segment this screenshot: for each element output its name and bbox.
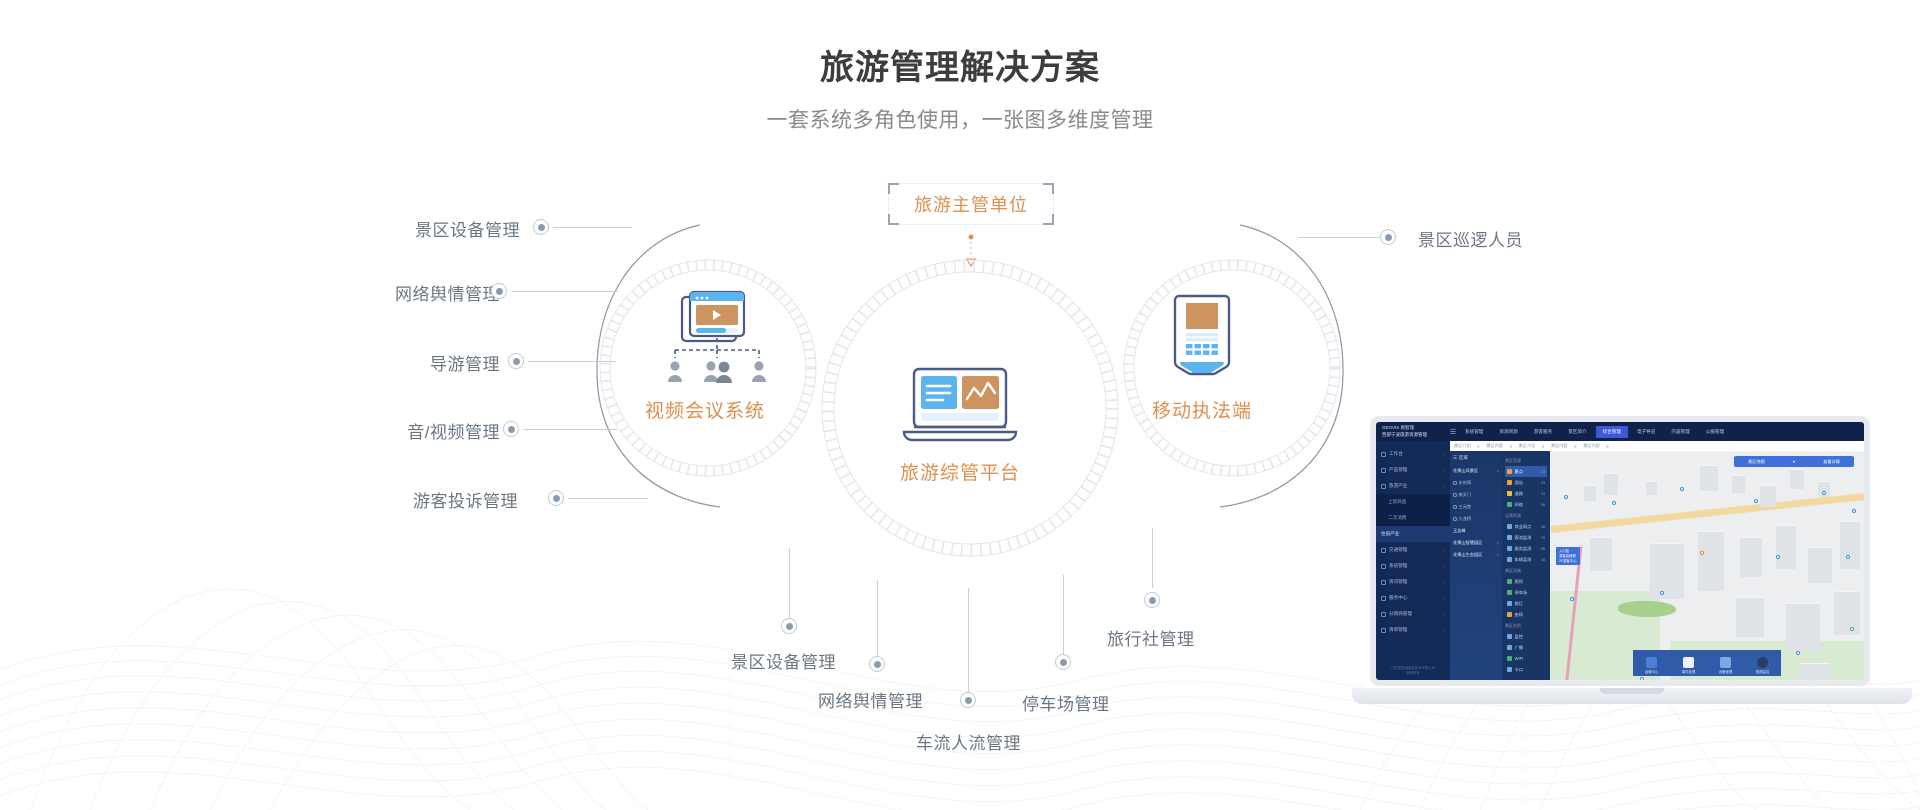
dock-item-label: 事件处理 — [1682, 670, 1696, 674]
map-building — [1786, 603, 1820, 651]
sidebar-item[interactable]: 清单管理 › — [1376, 622, 1450, 638]
sidebar-item-label: 服务中心 — [1389, 595, 1407, 601]
sidebar-item-label: 产品管理 — [1389, 467, 1407, 473]
tree-row[interactable]: 花果山生态园区 ∨ — [1453, 549, 1499, 561]
tree-row[interactable]: 南天门 — [1453, 489, 1499, 501]
layer-swatch-icon — [1507, 634, 1512, 639]
tab-close-icon[interactable]: ✕ — [1574, 444, 1578, 449]
list-item[interactable]: 服务监测 95 — [1505, 543, 1547, 554]
sidebar-item-label: 分销商管理 — [1389, 611, 1412, 617]
sidebar-item-icon — [1381, 628, 1386, 633]
map-building — [1604, 473, 1618, 495]
sidebar-item-icon — [1381, 468, 1386, 473]
tree-bullet-icon — [1453, 517, 1457, 521]
dashboard-logo: GEOVIS 易智瑞 西部宁波旅游资源管理 — [1376, 425, 1448, 437]
region-tree-title: 区域 — [1459, 455, 1468, 461]
list-item[interactable]: 道路 23 — [1505, 488, 1547, 499]
device-management-icon — [1720, 657, 1731, 668]
list-item-label: 广播 — [1515, 645, 1523, 651]
list-item[interactable]: 停车场 — [1505, 587, 1547, 598]
chevron-right-icon: › — [1444, 612, 1445, 617]
node-label-mobile-enforcement: 移动执法端 — [1119, 396, 1285, 423]
node-mobile-enforcement[interactable]: 移动执法端 — [1147, 290, 1257, 400]
spoke-label-bottom-3: 车流人流管理 — [916, 729, 1021, 754]
layer-swatch-icon — [1507, 524, 1512, 529]
sidebar-item[interactable]: 分销商管理 › — [1376, 606, 1450, 622]
tree-row-label: 玉女峰 — [1453, 528, 1466, 534]
sidebar-subitem[interactable]: 上架商品 — [1376, 494, 1450, 510]
tab-item[interactable]: 景区内容 — [1486, 443, 1503, 449]
tab-close-icon[interactable]: ✕ — [1541, 444, 1545, 449]
map-building — [1584, 485, 1596, 501]
layer-swatch-icon — [1507, 656, 1512, 661]
sidebar-item-label: 交通管理 — [1389, 547, 1407, 553]
spoke-dot-left-5[interactable] — [548, 490, 564, 506]
sidebar-item-icon — [1381, 548, 1386, 553]
map-marker[interactable] — [1796, 651, 1800, 655]
tab-item[interactable]: 景区介绍 — [1519, 443, 1536, 449]
list-group-title: 景区设施 — [1505, 568, 1547, 574]
sidebar-item-icon — [1381, 484, 1386, 489]
layer-swatch-icon — [1507, 469, 1512, 474]
tree-row[interactable]: 花果山风景区 ∧ — [1453, 465, 1499, 477]
dock-item-label: 视频监控 — [1756, 670, 1770, 674]
map-building — [1700, 465, 1718, 491]
node-video-conference[interactable]: 视频会议系统 — [640, 290, 770, 400]
tree-row[interactable]: 九龙桥 — [1453, 513, 1499, 525]
dashboard-menu: 系统管理 资源资源 游客服务 景区简介 综合管理 电子导览 内容管理 公报管理 — [1458, 426, 1864, 438]
menu-item[interactable]: 公报管理 — [1699, 426, 1731, 438]
spoke-dot-bottom-3[interactable] — [960, 692, 976, 708]
tab-item[interactable]: 景区介绍 — [1454, 443, 1471, 449]
spoke-dot-left-3[interactable] — [508, 353, 524, 369]
list-item[interactable]: 卡口 — [1505, 664, 1547, 675]
footer-line-2: 版权所有 — [1376, 671, 1450, 676]
list-item-label: 车辆监测 — [1515, 557, 1532, 563]
map-marker[interactable] — [1564, 495, 1568, 499]
chevron-right-icon: › — [1444, 548, 1445, 553]
tab-item[interactable]: 景区内容 — [1551, 443, 1568, 449]
tree-row[interactable]: 花果山智慧园区 ∨ — [1453, 537, 1499, 549]
chevron-right-icon: › — [1444, 452, 1445, 457]
map-region-select[interactable]: 景区地图 — [1748, 459, 1765, 465]
page-subtitle: 一套系统多角色使用，一张图多维度管理 — [0, 104, 1920, 134]
chevron-right-icon: › — [1444, 596, 1445, 601]
layer-swatch-icon — [1507, 480, 1512, 485]
map-building — [1646, 481, 1657, 495]
map-building — [1760, 485, 1776, 507]
spoke-label-left-4: 音/视频管理 — [300, 418, 500, 443]
layer-swatch-icon — [1507, 667, 1512, 672]
map-building — [1740, 537, 1762, 577]
menu-item[interactable]: 资源资源 — [1492, 426, 1524, 438]
spoke-label-left-5: 游客投诉管理 — [330, 487, 518, 512]
map-building — [1698, 531, 1724, 591]
list-item-count: 95 — [1541, 547, 1545, 551]
list-item-count: 23 — [1541, 470, 1545, 474]
map-park-polygon — [1618, 601, 1676, 617]
mobile-device-icon — [1147, 290, 1257, 400]
spoke-dot-bottom-4[interactable] — [1055, 654, 1071, 670]
tab-item[interactable]: 景区内容 — [1583, 443, 1600, 449]
sidebar-item-label: 工作台 — [1389, 451, 1403, 457]
sidebar-item[interactable]: 交通管理 › — [1376, 542, 1450, 558]
menu-item[interactable]: 景区简介 — [1561, 426, 1593, 438]
map-marker[interactable] — [1612, 501, 1616, 505]
tree-row-label: 南天门 — [1459, 492, 1472, 498]
map-tooltip: 入口处 游客高峰期 2F游客中心 — [1556, 547, 1580, 565]
sidebar-item-label: 清单管理 — [1389, 627, 1407, 633]
tab-close-icon[interactable]: ✕ — [1477, 444, 1481, 449]
list-group-title: 景区资源 — [1505, 458, 1547, 464]
resource-list: 景区资源 景点 23 酒店 23 道路 — [1502, 451, 1550, 680]
map-marker[interactable] — [1776, 555, 1780, 559]
map-building — [1590, 537, 1612, 571]
corner-bracket-top-left — [888, 183, 899, 194]
list-item-label: 座椅 — [1515, 612, 1523, 618]
spoke-label-bottom-2: 网络舆情管理 — [818, 687, 923, 712]
list-item-count: 16 — [1541, 558, 1545, 562]
spoke-dot-left-1[interactable] — [533, 219, 549, 235]
spoke-dot-bottom-2[interactable] — [869, 656, 885, 672]
list-item-label: 监控 — [1515, 634, 1523, 640]
list-item-label: 道路 — [1515, 491, 1523, 497]
menu-item[interactable]: 内容管理 — [1664, 426, 1696, 438]
tree-bullet-icon — [1453, 493, 1457, 497]
operations-center-icon — [1646, 657, 1657, 668]
hamburger-menu-icon[interactable]: ☰ — [1448, 428, 1458, 436]
dock-item[interactable]: 运营中心 — [1645, 657, 1659, 674]
sidebar-item-label: 旅游产业 — [1389, 483, 1407, 489]
sidebar-subitem[interactable]: 二次消费 — [1376, 510, 1450, 526]
spoke-line-left-4 — [523, 429, 617, 430]
list-item[interactable]: 广播 — [1505, 642, 1547, 653]
event-handling-icon — [1683, 657, 1694, 668]
map-building — [1834, 591, 1860, 635]
sidebar-item-selected[interactable]: 住宿产业 — [1376, 526, 1450, 542]
sidebar-item-label: 资讯管理 — [1389, 579, 1407, 585]
sidebar-subitem-label: 上架商品 — [1388, 499, 1406, 505]
map-marker[interactable] — [1660, 591, 1664, 595]
map-building — [1650, 543, 1684, 599]
sidebar-item[interactable]: 产品管理 › — [1376, 462, 1450, 478]
list-item[interactable]: 监控 — [1505, 631, 1547, 642]
spoke-label-left-2: 网络舆情管理 — [300, 280, 500, 305]
sidebar-item-icon — [1381, 596, 1386, 601]
list-item-label: 厕所 — [1515, 579, 1523, 585]
tree-row-label: 三元宫 — [1459, 504, 1472, 510]
sidebar-item[interactable]: 工作台 › — [1376, 446, 1450, 462]
tab-close-icon[interactable]: ✕ — [1509, 444, 1513, 449]
spoke-label-left-1: 景区设备管理 — [320, 216, 520, 241]
list-item-label: 景点 — [1515, 469, 1523, 475]
laptop-mockup: GEOVIS 易智瑞 西部宁波旅游资源管理 ☰ 系统管理 资源资源 游客服务 景… — [1352, 416, 1920, 746]
map-marker[interactable] — [1680, 487, 1684, 491]
dashboard-topbar: GEOVIS 易智瑞 西部宁波旅游资源管理 ☰ 系统管理 资源资源 游客服务 景… — [1376, 422, 1864, 441]
layer-swatch-icon — [1507, 546, 1512, 551]
chevron-right-icon: › — [1444, 580, 1445, 585]
sidebar-item-label: 住宿产业 — [1381, 531, 1399, 537]
spoke-dot-left-2[interactable] — [491, 283, 507, 299]
dashboard-app: GEOVIS 易智瑞 西部宁波旅游资源管理 ☰ 系统管理 资源资源 游客服务 景… — [1376, 422, 1864, 680]
sidebar-item[interactable]: 旅游产业 › — [1376, 478, 1450, 494]
layer-swatch-icon — [1507, 535, 1512, 540]
list-item-label: 服务监测 — [1515, 546, 1532, 552]
map-building — [1776, 525, 1796, 569]
list-item-count: 45 — [1541, 525, 1545, 529]
tree-row-label: 水帘洞 — [1459, 480, 1472, 486]
list-item-label: 商业网点 — [1515, 524, 1532, 530]
sidebar-item[interactable]: 服务中心 › — [1376, 590, 1450, 606]
map-marker-ok[interactable] — [1850, 627, 1854, 631]
sidebar-subitem-label: 二次消费 — [1388, 515, 1406, 521]
laptop-screen: GEOVIS 易智瑞 西部宁波旅游资源管理 ☰ 系统管理 资源资源 游客服务 景… — [1370, 416, 1870, 686]
map-building — [1736, 597, 1764, 637]
list-item[interactable]: 客流监测 78 — [1505, 532, 1547, 543]
tree-row[interactable]: 水帘洞 — [1453, 477, 1499, 489]
dock-item[interactable]: 事件处理 — [1682, 657, 1696, 674]
menu-item[interactable]: 电子导览 — [1630, 426, 1662, 438]
spoke-dot-right-1[interactable] — [1380, 229, 1396, 245]
list-item-label: 路灯 — [1515, 601, 1523, 607]
spoke-dot-left-4[interactable] — [503, 421, 519, 437]
map-marker[interactable] — [1640, 677, 1644, 680]
spoke-label-bottom-4: 停车场管理 — [1022, 690, 1110, 715]
layer-swatch-icon — [1507, 645, 1512, 650]
list-item-label: 网络 — [1515, 502, 1523, 508]
spoke-dot-bottom-5[interactable] — [1144, 592, 1160, 608]
menu-item[interactable]: 系统管理 — [1458, 426, 1490, 438]
sidebar-item-icon — [1381, 564, 1386, 569]
laptop-dashboard-icon — [896, 366, 1024, 456]
tooltip-line-3: 2F游客中心 — [1559, 559, 1577, 564]
tab-close-icon[interactable]: ✕ — [1606, 444, 1610, 449]
spoke-line-bottom-5 — [1152, 528, 1153, 588]
menu-item-active[interactable]: 综合管理 — [1596, 426, 1628, 438]
list-item-count: 78 — [1541, 536, 1545, 540]
sidebar-item[interactable]: 资讯管理 › — [1376, 574, 1450, 590]
layer-swatch-icon — [1507, 590, 1512, 595]
list-item-count: 56 — [1541, 503, 1545, 507]
chevron-right-icon: › — [1444, 628, 1445, 633]
video-surveillance-icon — [1757, 657, 1768, 668]
map-main-road — [1551, 492, 1864, 533]
map-marker[interactable] — [1852, 509, 1856, 513]
list-item[interactable]: WIFI — [1505, 653, 1547, 664]
map-marker[interactable] — [1754, 499, 1758, 503]
logo-line-2: 西部宁波旅游资源管理 — [1382, 432, 1448, 438]
map-marker[interactable] — [1822, 491, 1826, 495]
list-item-label: 卡口 — [1515, 667, 1523, 673]
map-detail-button[interactable]: 查看详情 — [1823, 459, 1840, 465]
list-item[interactable]: 路灯 — [1505, 598, 1547, 609]
laptop-notch — [1600, 688, 1664, 694]
map-canvas[interactable]: 景区地图 ▾ 查看详情 入口处 游客高峰期 2F游客中心 运营中心 — [1550, 451, 1864, 680]
map-marker[interactable] — [1846, 555, 1850, 559]
list-item[interactable]: 厕所 — [1505, 576, 1547, 587]
spoke-label-bottom-5: 旅行社管理 — [1107, 625, 1195, 650]
sidebar-item[interactable]: 系统管理 › — [1376, 558, 1450, 574]
map-building — [1790, 469, 1804, 489]
sidebar-item-label: 系统管理 — [1389, 563, 1407, 569]
node-tourism-platform[interactable]: 旅游综管平台 — [896, 366, 1024, 466]
list-item[interactable]: 车辆监测 16 — [1505, 554, 1547, 565]
spoke-label-right-1: 景区巡逻人员 — [1418, 226, 1523, 251]
caret-down-icon[interactable]: ∨ — [1496, 553, 1499, 557]
sidebar-footer: 江苏易智瑞信息技术有限公司 版权所有 — [1376, 666, 1450, 676]
layer-swatch-icon — [1507, 557, 1512, 562]
dock-item-label: 设备管理 — [1719, 670, 1733, 674]
solution-infographic: 旅游管理解决方案 一套系统多角色使用，一张图多维度管理 旅游主管单位 — [0, 0, 1920, 810]
chevron-down-icon[interactable]: ▾ — [1793, 459, 1795, 464]
chevron-right-icon: › — [1444, 564, 1445, 569]
dashboard-layers-panel: ☰ 区域 花果山风景区 ∧ 水帘洞 南天门 — [1450, 451, 1550, 680]
region-tree-header: ☰ 区域 — [1453, 455, 1499, 461]
dock-item[interactable]: 视频监控 — [1756, 657, 1770, 674]
layer-swatch-icon — [1507, 502, 1512, 507]
region-tree: ☰ 区域 花果山风景区 ∧ 水帘洞 南天门 — [1450, 451, 1502, 680]
spoke-line-bottom-2 — [877, 580, 878, 660]
list-group-title: 景区安防 — [1505, 623, 1547, 629]
tree-row[interactable]: 三元宫 — [1453, 501, 1499, 513]
map-search-bar[interactable]: 景区地图 ▾ 查看详情 — [1734, 456, 1854, 467]
spoke-label-left-3: 导游管理 — [330, 350, 500, 375]
page-title: 旅游管理解决方案 — [0, 40, 1920, 89]
layer-swatch-icon — [1507, 612, 1512, 617]
list-item-label: 酒店 — [1515, 480, 1523, 486]
tooltip-line-2: 游客高峰期 — [1559, 554, 1577, 559]
layer-swatch-icon — [1507, 601, 1512, 606]
spoke-line-left-3 — [528, 361, 616, 362]
sidebar-item-icon — [1381, 452, 1386, 457]
tree-row-label: 花果山风景区 — [1453, 468, 1478, 474]
tree-row-label: 花果山智慧园区 — [1453, 540, 1482, 546]
node-label-video-conference: 视频会议系统 — [622, 396, 788, 423]
map-building — [1808, 547, 1832, 583]
sidebar-item-icon — [1381, 612, 1386, 617]
tree-row-label: 花果山生态园区 — [1453, 552, 1482, 558]
spoke-line-left-2 — [511, 291, 618, 292]
map-building — [1840, 521, 1860, 569]
tree-row[interactable]: 玉女峰 — [1453, 525, 1499, 537]
caret-down-icon[interactable]: ∨ — [1496, 541, 1499, 545]
tree-bullet-icon — [1453, 505, 1457, 509]
list-item-label: 客流监测 — [1515, 535, 1532, 541]
dock-item-label: 运营中心 — [1645, 670, 1659, 674]
tree-bullet-icon — [1453, 481, 1457, 485]
spoke-line-bottom-1 — [789, 548, 790, 622]
list-item-selected[interactable]: 景点 23 — [1505, 466, 1547, 477]
spoke-line-bottom-3 — [968, 588, 969, 693]
spoke-line-right-1 — [1298, 237, 1380, 238]
node-label-tourism-platform: 旅游综管平台 — [874, 458, 1046, 485]
list-item[interactable]: 酒店 23 — [1505, 477, 1547, 488]
chevron-down-icon: › — [1444, 484, 1445, 489]
spoke-line-left-1 — [553, 227, 632, 228]
dashboard-sidebar: 工作台 › 产品管理 › 旅游产业 › 上架商品 — [1376, 441, 1450, 680]
list-item-label: 停车场 — [1515, 590, 1528, 596]
list-item-count: 23 — [1541, 492, 1545, 496]
dashboard-tab-strip: 景区介绍 ✕ 景区内容 ✕ 景区介绍 ✕ 景区内容 ✕ 景区内容 ✕ — [1450, 441, 1864, 451]
layer-swatch-icon — [1507, 491, 1512, 496]
map-marker-alert[interactable] — [1700, 551, 1704, 555]
spoke-label-bottom-1: 景区设备管理 — [731, 648, 836, 673]
tree-row-label: 九龙桥 — [1459, 516, 1472, 522]
spoke-line-bottom-4 — [1063, 575, 1064, 657]
spoke-line-left-5 — [568, 498, 648, 499]
list-icon: ☰ — [1453, 455, 1457, 461]
caret-up-icon[interactable]: ∧ — [1496, 469, 1499, 473]
list-item[interactable]: 网络 56 — [1505, 499, 1547, 510]
list-item[interactable]: 座椅 — [1505, 609, 1547, 620]
map-building — [1800, 663, 1830, 680]
map-marker[interactable] — [1570, 597, 1574, 601]
corner-bracket-top-right — [1043, 183, 1054, 194]
map-building — [1732, 475, 1745, 493]
sidebar-item-icon — [1381, 580, 1386, 585]
menu-item[interactable]: 游客服务 — [1527, 426, 1559, 438]
list-item[interactable]: 商业网点 45 — [1505, 521, 1547, 532]
video-window-icon — [640, 290, 770, 400]
layer-swatch-icon — [1507, 579, 1512, 584]
list-group-title: 运营资源 — [1505, 513, 1547, 519]
map-action-dock: 运营中心 事件处理 设备管理 视频监控 — [1633, 650, 1781, 676]
list-item-count: 23 — [1541, 481, 1545, 485]
spoke-dot-bottom-1[interactable] — [781, 618, 797, 634]
chevron-down-icon: › — [1444, 468, 1445, 473]
list-item-label: WIFI — [1515, 656, 1524, 661]
dock-item[interactable]: 设备管理 — [1719, 657, 1733, 674]
